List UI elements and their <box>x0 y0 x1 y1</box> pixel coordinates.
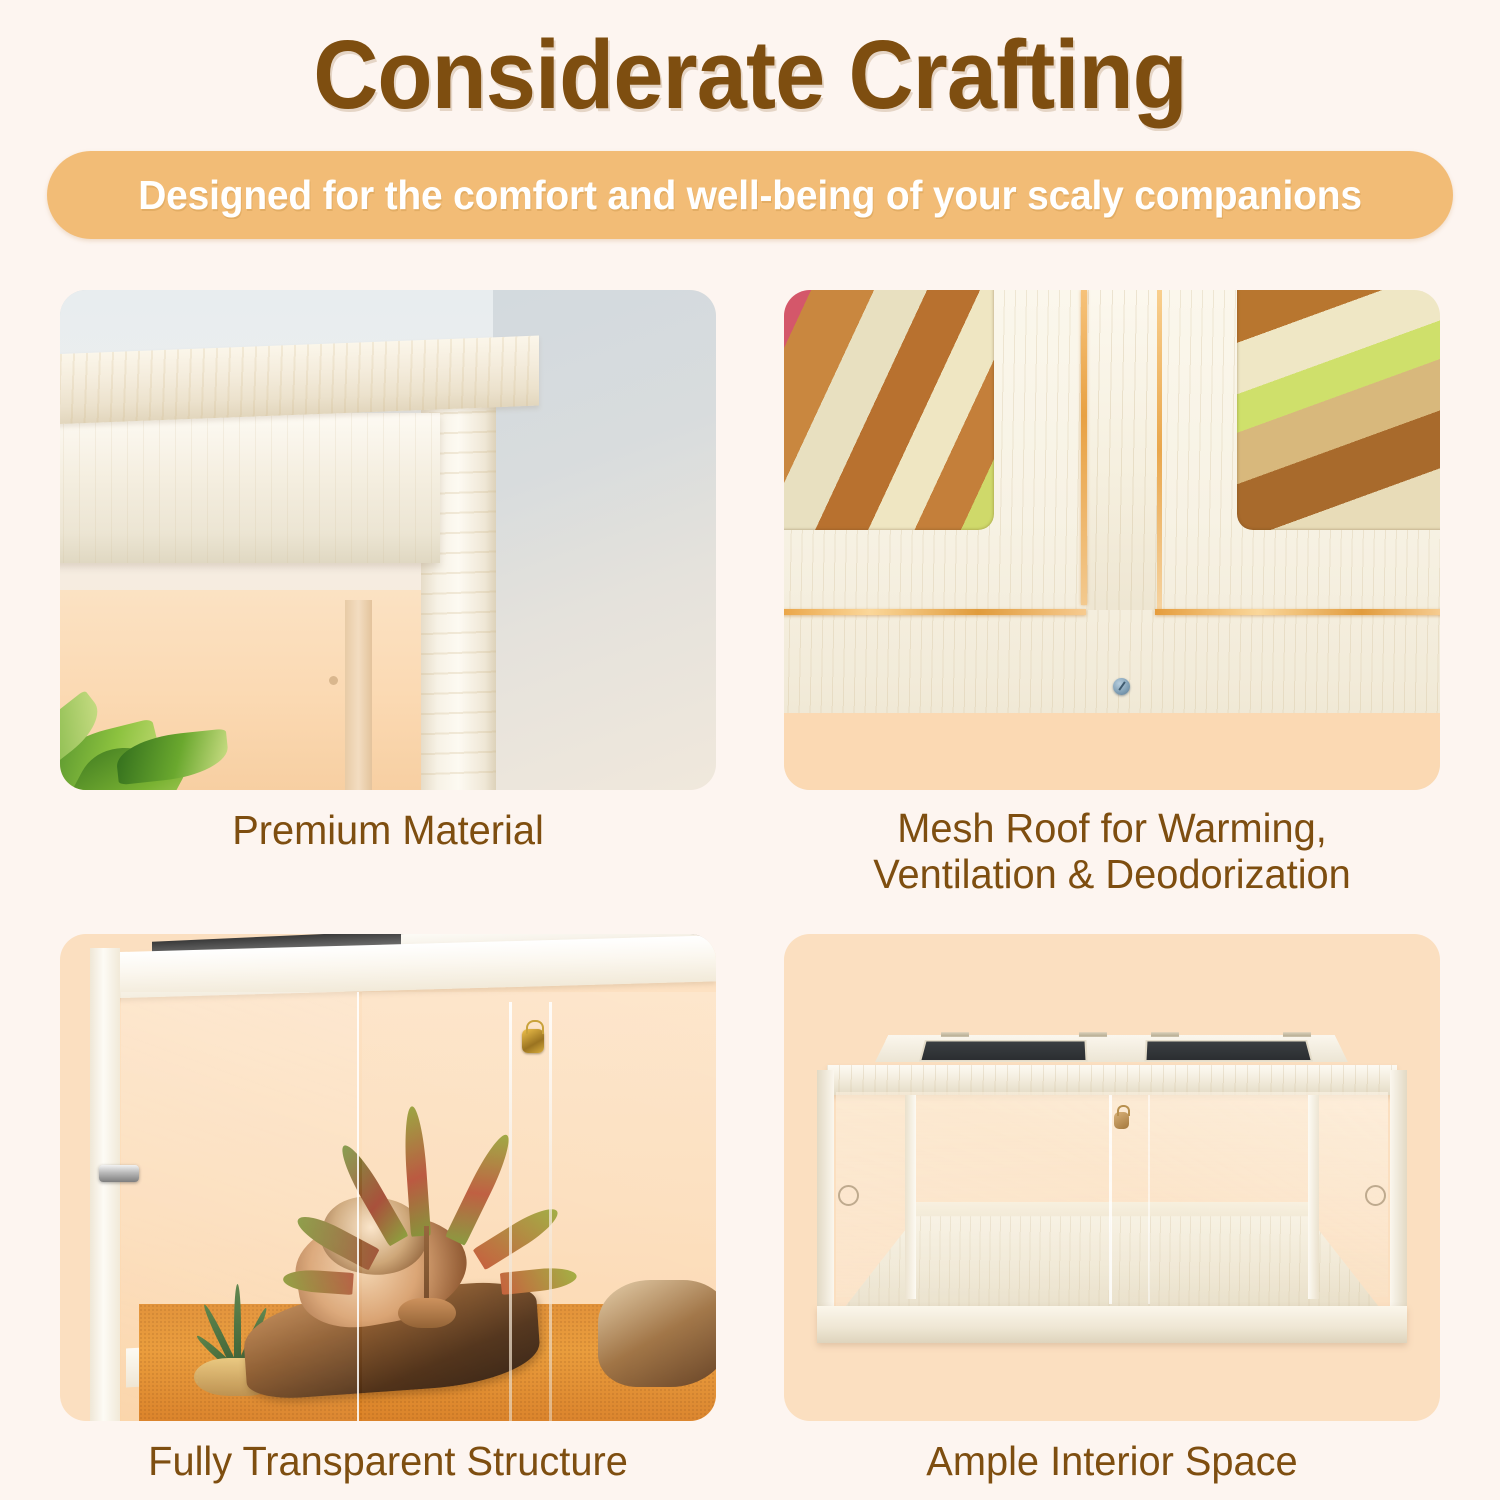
panel-premium-material: Premium Material <box>60 290 716 898</box>
hinge-icon <box>1151 1032 1179 1036</box>
caption-ample-interior-space: Ample Interior Space <box>794 1439 1430 1485</box>
center-wood-divider <box>1088 290 1156 610</box>
door-seam-horizontal-left <box>784 609 1086 615</box>
mesh-screen-left <box>784 290 994 530</box>
glass-edge <box>549 1002 552 1421</box>
panel-ample-interior-space: Ample Interior Space <box>784 934 1440 1485</box>
header: Considerate Crafting Designed for the co… <box>0 0 1500 239</box>
caption-fully-transparent-structure: Fully Transparent Structure <box>70 1439 706 1485</box>
caption-mesh-roof: Mesh Roof for Warming, Ventilation & Deo… <box>794 806 1430 898</box>
front-top-rail <box>827 1065 1398 1094</box>
left-corner-post <box>817 1070 834 1323</box>
glass-door-seam <box>1148 1095 1150 1304</box>
mesh-panel-left <box>919 1040 1087 1061</box>
glass-door-right <box>362 992 716 1421</box>
caption-line-2: Ventilation & Deodorization <box>794 852 1430 898</box>
subtitle-text: Designed for the comfort and well-being … <box>138 172 1362 219</box>
door-seam-horizontal-right <box>1155 609 1440 615</box>
left-wood-post <box>90 948 120 1420</box>
hinge-icon <box>1282 1032 1310 1036</box>
photo-peach-backdrop <box>784 713 1440 791</box>
door-seam-vertical-right <box>1157 290 1162 610</box>
lock-icon <box>522 1029 544 1053</box>
ample-interior-photo <box>784 934 1440 1421</box>
glass-door-seam <box>1109 1095 1112 1304</box>
highlight-dot <box>329 676 338 685</box>
base-rail <box>817 1306 1407 1343</box>
inner-wood-post <box>345 600 371 790</box>
mesh-panel-right <box>1144 1040 1312 1061</box>
vent-hole-icon <box>838 1185 859 1206</box>
panel-mesh-roof: Mesh Roof for Warming, Ventilation & Deo… <box>784 290 1440 898</box>
glass-edge <box>509 1002 512 1421</box>
panel-row-bottom: Fully Transparent Structure <box>0 934 1500 1485</box>
caption-line-1: Mesh Roof for Warming, <box>794 806 1430 852</box>
transparent-structure-photo <box>60 934 716 1421</box>
right-corner-post <box>1390 1070 1407 1323</box>
caption-premium-material: Premium Material <box>70 808 706 854</box>
page-title: Considerate Crafting <box>53 26 1448 123</box>
panel-row-top: Premium Material Mesh Roof for Warming, … <box>0 290 1500 898</box>
screw-icon <box>1113 678 1130 695</box>
lock-icon <box>1114 1112 1129 1129</box>
premium-material-photo <box>60 290 716 790</box>
subtitle-banner: Designed for the comfort and well-being … <box>47 151 1453 239</box>
feature-panel-grid: Premium Material Mesh Roof for Warming, … <box>0 290 1500 1485</box>
mesh-screen-right <box>1237 290 1440 530</box>
hinge-icon <box>1079 1032 1107 1036</box>
glass-door-left <box>121 992 359 1421</box>
door-seam-vertical-left <box>1081 290 1087 605</box>
panel-fully-transparent-structure: Fully Transparent Structure <box>60 934 716 1485</box>
hinge-icon <box>941 1032 969 1036</box>
mesh-roof-photo <box>784 290 1440 790</box>
vent-hole-icon <box>1365 1185 1386 1206</box>
door-knob-icon <box>99 1165 139 1182</box>
wood-board-panel <box>60 413 440 563</box>
